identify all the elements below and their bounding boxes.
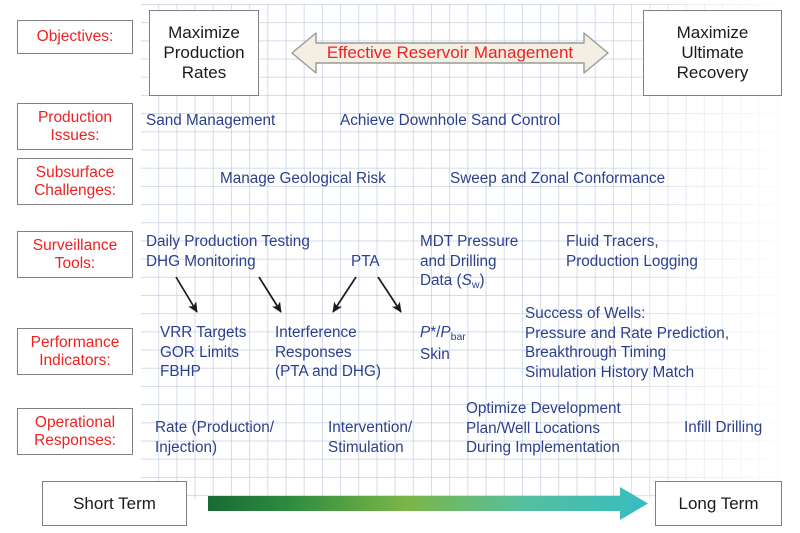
surveillance-tool-item-4: Fluid Tracers, Production Logging	[566, 232, 698, 271]
operational-response-item-2: Intervention/ Stimulation	[328, 418, 412, 457]
row-label-subsurface-challenges: Subsurface Challenges:	[17, 158, 133, 205]
subsurface-challenge-item-2: Sweep and Zonal Conformance	[450, 169, 665, 189]
row-label-operational-responses: Operational Responses:	[17, 408, 133, 455]
subsurface-challenge-item-1: Manage Geological Risk	[220, 169, 386, 189]
timeline-long-term-box: Long Term	[655, 481, 782, 526]
surveillance-tool-item-1: Daily Production Testing DHG Monitoring	[146, 232, 310, 271]
performance-indicator-item-3: P*/Pbar Skin	[420, 323, 466, 364]
objective-box-right: Maximize Ultimate Recovery	[643, 10, 782, 96]
row-label-surveillance-tools: Surveillance Tools:	[17, 231, 133, 278]
diagram-canvas: Effective Reservoir Management Objective…	[0, 0, 800, 533]
operational-response-item-1: Rate (Production/ Injection)	[155, 418, 274, 457]
performance-indicator-item-2: Interference Responses (PTA and DHG)	[275, 323, 381, 382]
row-label-performance-indicators: Performance Indicators:	[17, 328, 133, 375]
objective-box-left: Maximize Production Rates	[149, 10, 259, 96]
production-issue-item-1: Sand Management	[146, 111, 275, 131]
surveillance-tool-item-2: PTA	[351, 252, 380, 272]
connector-arrow-4	[378, 277, 401, 312]
performance-indicator-item-4: Success of Wells: Pressure and Rate Pred…	[525, 304, 729, 382]
row-label-objectives: Objectives:	[17, 20, 133, 54]
connector-arrow-1	[176, 277, 197, 312]
connector-arrow-2	[259, 277, 281, 312]
surveillance-tool-item-3: MDT Pressure and Drilling Data (Sw)	[420, 232, 518, 293]
operational-response-item-4: Infill Drilling	[684, 418, 762, 438]
operational-response-item-3: Optimize Development Plan/Well Locations…	[466, 399, 621, 458]
banner-label: Effective Reservoir Management	[300, 43, 600, 63]
connector-arrow-3	[333, 277, 356, 312]
timeline-short-term-box: Short Term	[42, 481, 187, 526]
row-label-production-issues: Production Issues:	[17, 103, 133, 150]
timeline-gradient-arrow	[208, 487, 648, 520]
performance-indicator-item-1: VRR Targets GOR Limits FBHP	[160, 323, 246, 382]
production-issue-item-2: Achieve Downhole Sand Control	[340, 111, 560, 131]
